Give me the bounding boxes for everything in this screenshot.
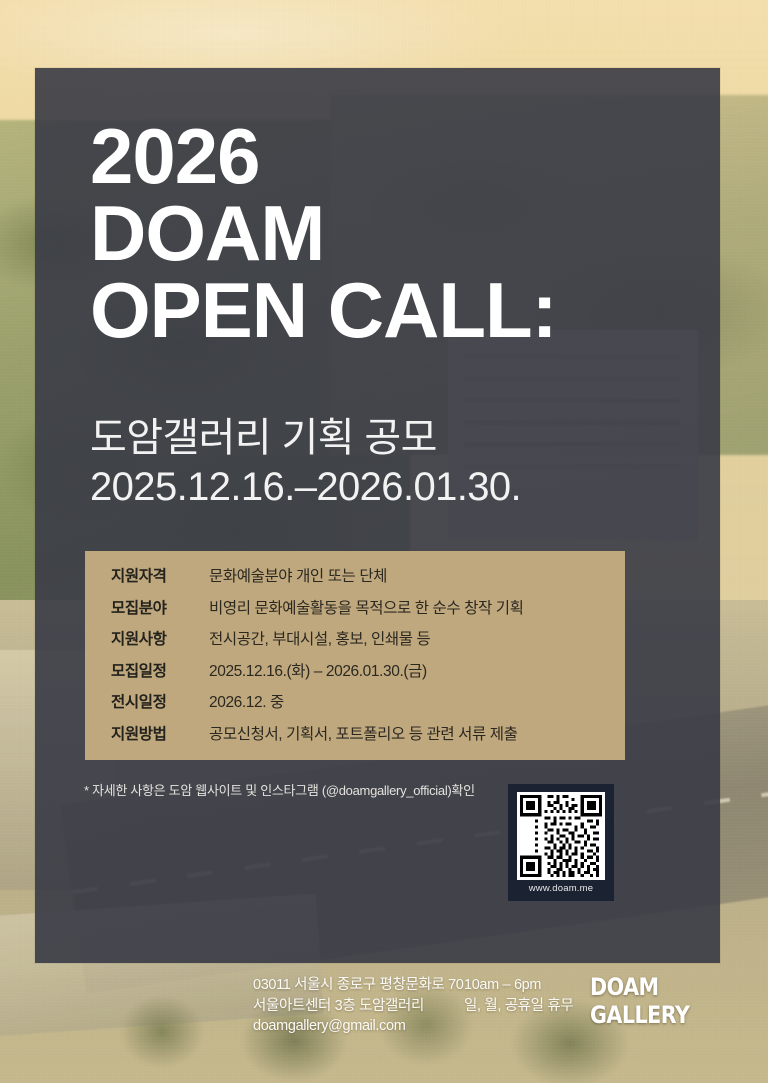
row-value: 문화예술분야 개인 또는 단체 <box>209 564 387 586</box>
footer-hours: 10am – 6pm 일, 월, 공휴일 휴무 <box>464 975 573 1016</box>
row-label: 지원방법 <box>111 722 209 744</box>
table-row: 모집분야 비영리 문화예술활동을 목적으로 한 순수 창작 기획 <box>85 596 625 628</box>
headline-line-2: DOAM <box>90 195 690 272</box>
table-row: 지원자격 문화예술분야 개인 또는 단체 <box>85 564 625 596</box>
footnote-text: * 자세한 사항은 도암 웹사이트 및 인스타그램 (@doamgallery_… <box>84 780 475 799</box>
hours-line-1: 10am – 6pm <box>464 975 573 996</box>
table-row: 지원방법 공모신청서, 기획서, 포트폴리오 등 관련 서류 제출 <box>85 722 625 754</box>
row-value: 2025.12.16.(화) – 2026.01.30.(금) <box>209 659 427 681</box>
table-row: 전시일정 2026.12. 중 <box>85 690 625 722</box>
address-line-2: 서울아트센터 3층 도암갤러리 <box>253 996 464 1017</box>
address-line-3: doamgallery@gmail.com <box>253 1016 464 1037</box>
page-title: 2026 DOAM OPEN CALL: <box>90 118 690 350</box>
row-label: 모집분야 <box>111 596 209 618</box>
row-label: 모집일정 <box>111 659 209 681</box>
row-value: 비영리 문화예술활동을 목적으로 한 순수 창작 기획 <box>209 596 524 618</box>
info-table: 지원자격 문화예술분야 개인 또는 단체 모집분야 비영리 문화예술활동을 목적… <box>85 551 625 760</box>
row-value: 공모신청서, 기획서, 포트폴리오 등 관련 서류 제출 <box>209 722 517 744</box>
row-value: 전시공간, 부대시설, 홍보, 인쇄물 등 <box>209 627 430 649</box>
subtitle-line-1: 도암갤러리 기획 공모 <box>90 414 690 463</box>
row-label: 전시일정 <box>111 690 209 712</box>
row-label: 지원사항 <box>111 627 209 649</box>
brand-logo: DOAM GALLERY <box>590 973 743 1029</box>
qr-caption: www.doam.me <box>529 883 594 894</box>
table-row: 모집일정 2025.12.16.(화) – 2026.01.30.(금) <box>85 659 625 691</box>
row-value: 2026.12. 중 <box>209 690 284 712</box>
subtitle-line-2: 2025.12.16.–2026.01.30. <box>90 463 690 512</box>
address-line-1: 03011 서울시 종로구 평창문화로 70 <box>253 975 464 996</box>
qr-code-icon[interactable] <box>517 792 605 880</box>
poster-canvas: 2026 DOAM OPEN CALL: 도암갤러리 기획 공모 2025.12… <box>0 0 768 1083</box>
page-subtitle: 도암갤러리 기획 공모 2025.12.16.–2026.01.30. <box>90 414 690 512</box>
footer-address: 03011 서울시 종로구 평창문화로 70 서울아트센터 3층 도암갤러리 d… <box>253 975 464 1037</box>
headline-line-1: 2026 <box>90 118 690 195</box>
hours-line-2: 일, 월, 공휴일 휴무 <box>464 996 573 1017</box>
qr-code-block[interactable]: www.doam.me <box>508 784 614 901</box>
row-label: 지원자격 <box>111 564 209 586</box>
table-row: 지원사항 전시공간, 부대시설, 홍보, 인쇄물 등 <box>85 627 625 659</box>
headline-line-3: OPEN CALL: <box>90 272 690 349</box>
